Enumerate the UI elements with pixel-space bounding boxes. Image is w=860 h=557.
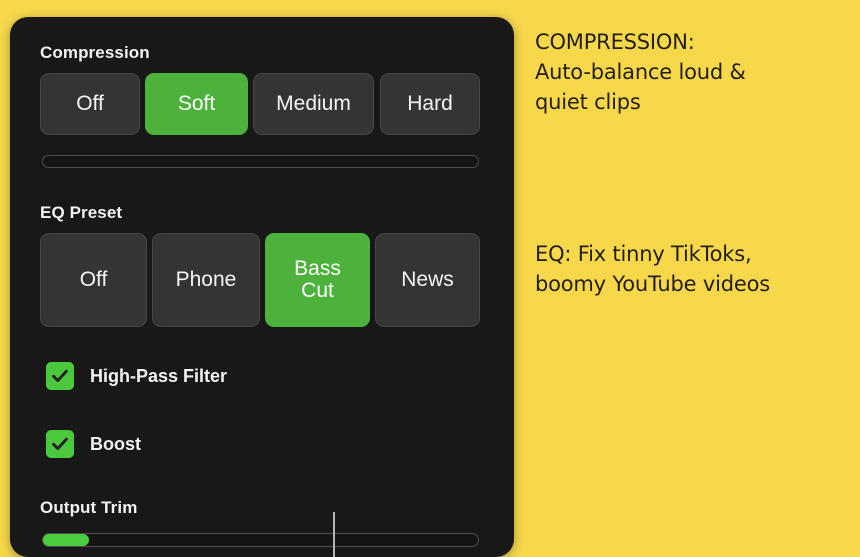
compression-option-hard[interactable]: Hard — [380, 73, 480, 135]
boost-label: Boost — [90, 434, 141, 455]
compression-annotation: COMPRESSION: Auto-balance loud & quiet c… — [535, 28, 855, 117]
eq-preset-option-bass-cut[interactable]: Bass Cut — [265, 233, 370, 327]
high-pass-filter-label: High-Pass Filter — [90, 366, 227, 387]
eq-annotation: EQ: Fix tinny TikToks, boomy YouTube vid… — [535, 240, 855, 300]
eq-preset-section-label: EQ Preset — [40, 203, 122, 223]
eq-preset-option-phone[interactable]: Phone — [152, 233, 260, 327]
audio-settings-panel: Compression Off Soft Medium Hard EQ Pres… — [10, 17, 514, 557]
checkmark-icon[interactable] — [46, 362, 74, 390]
eq-preset-option-off[interactable]: Off — [40, 233, 147, 327]
compression-option-off[interactable]: Off — [40, 73, 140, 135]
checkmark-icon[interactable] — [46, 430, 74, 458]
compression-option-soft[interactable]: Soft — [145, 73, 248, 135]
compression-amount-slider[interactable] — [42, 155, 479, 168]
boost-row[interactable]: Boost — [46, 430, 141, 458]
compression-option-group: Off Soft Medium Hard — [40, 73, 480, 135]
output-trim-slider[interactable] — [42, 533, 479, 547]
playhead-cursor — [333, 512, 335, 557]
compression-option-medium[interactable]: Medium — [253, 73, 374, 135]
output-trim-slider-fill — [43, 534, 89, 546]
eq-preset-option-group: Off Phone Bass Cut News — [40, 233, 480, 327]
compression-section-label: Compression — [40, 43, 150, 63]
eq-preset-option-news[interactable]: News — [375, 233, 480, 327]
high-pass-filter-row[interactable]: High-Pass Filter — [46, 362, 227, 390]
output-trim-label: Output Trim — [40, 498, 137, 518]
